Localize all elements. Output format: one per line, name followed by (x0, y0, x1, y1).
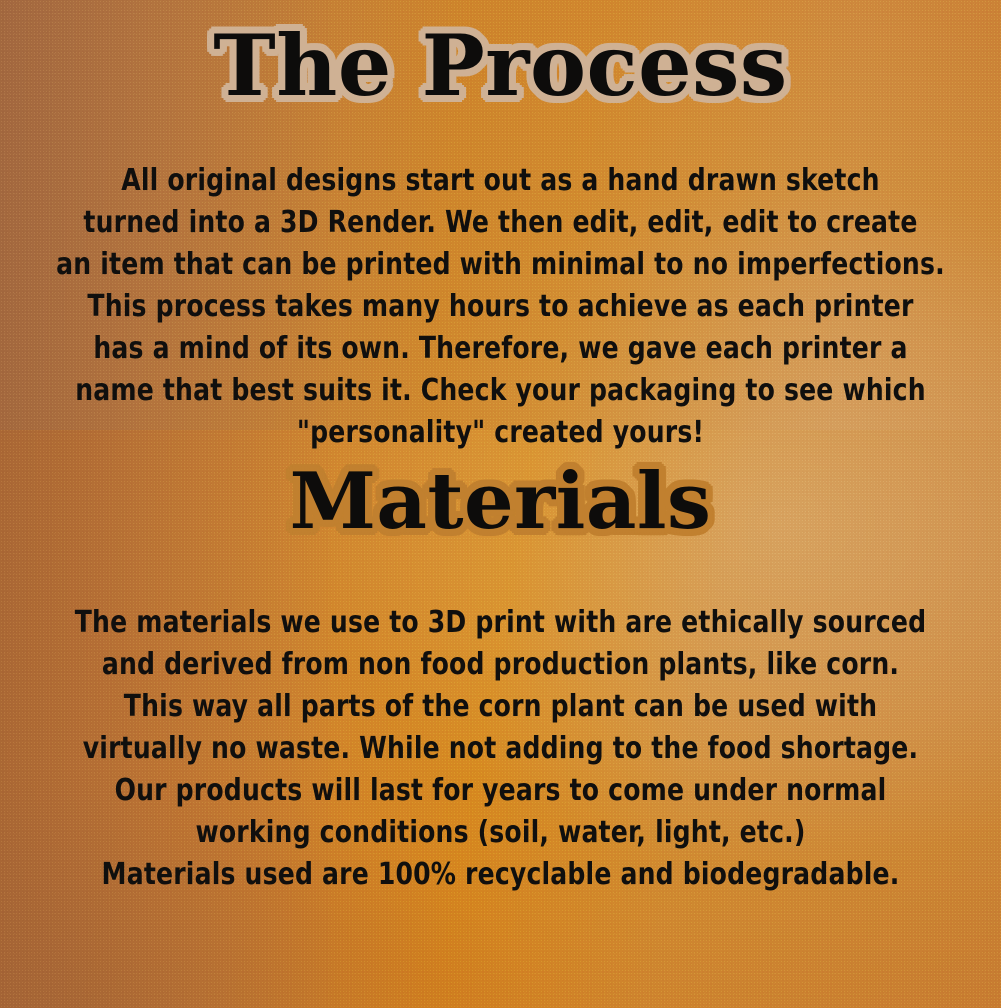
paragraph-materials: The materials we use to 3D print with ar… (35, 602, 966, 896)
paragraph-the-process: All original designs start out as a hand… (35, 160, 966, 454)
text-line: an item that can be printed with minimal… (35, 244, 966, 286)
heading-materials: Materials (0, 463, 1001, 541)
text-line: has a mind of its own. Therefore, we gav… (35, 328, 966, 370)
text-line: Materials used are 100% recyclable and b… (35, 854, 966, 896)
text-line: name that best suits it. Check your pack… (35, 370, 966, 412)
text-line: This way all parts of the corn plant can… (35, 686, 966, 728)
text-line: Our products will last for years to come… (35, 770, 966, 812)
text-line: The materials we use to 3D print with ar… (35, 602, 966, 644)
text-line: turned into a 3D Render. We then edit, e… (35, 202, 966, 244)
text-line: virtually no waste. While not adding to … (35, 728, 966, 770)
infographic-canvas: The Process All original designs start o… (0, 0, 1001, 1008)
text-line: "personality" created yours! (35, 412, 966, 454)
heading-the-process: The Process (0, 24, 1001, 108)
text-line: This process takes many hours to achieve… (35, 286, 966, 328)
text-line: and derived from non food production pla… (35, 644, 966, 686)
text-line: All original designs start out as a hand… (35, 160, 966, 202)
text-line: working conditions (soil, water, light, … (35, 812, 966, 854)
